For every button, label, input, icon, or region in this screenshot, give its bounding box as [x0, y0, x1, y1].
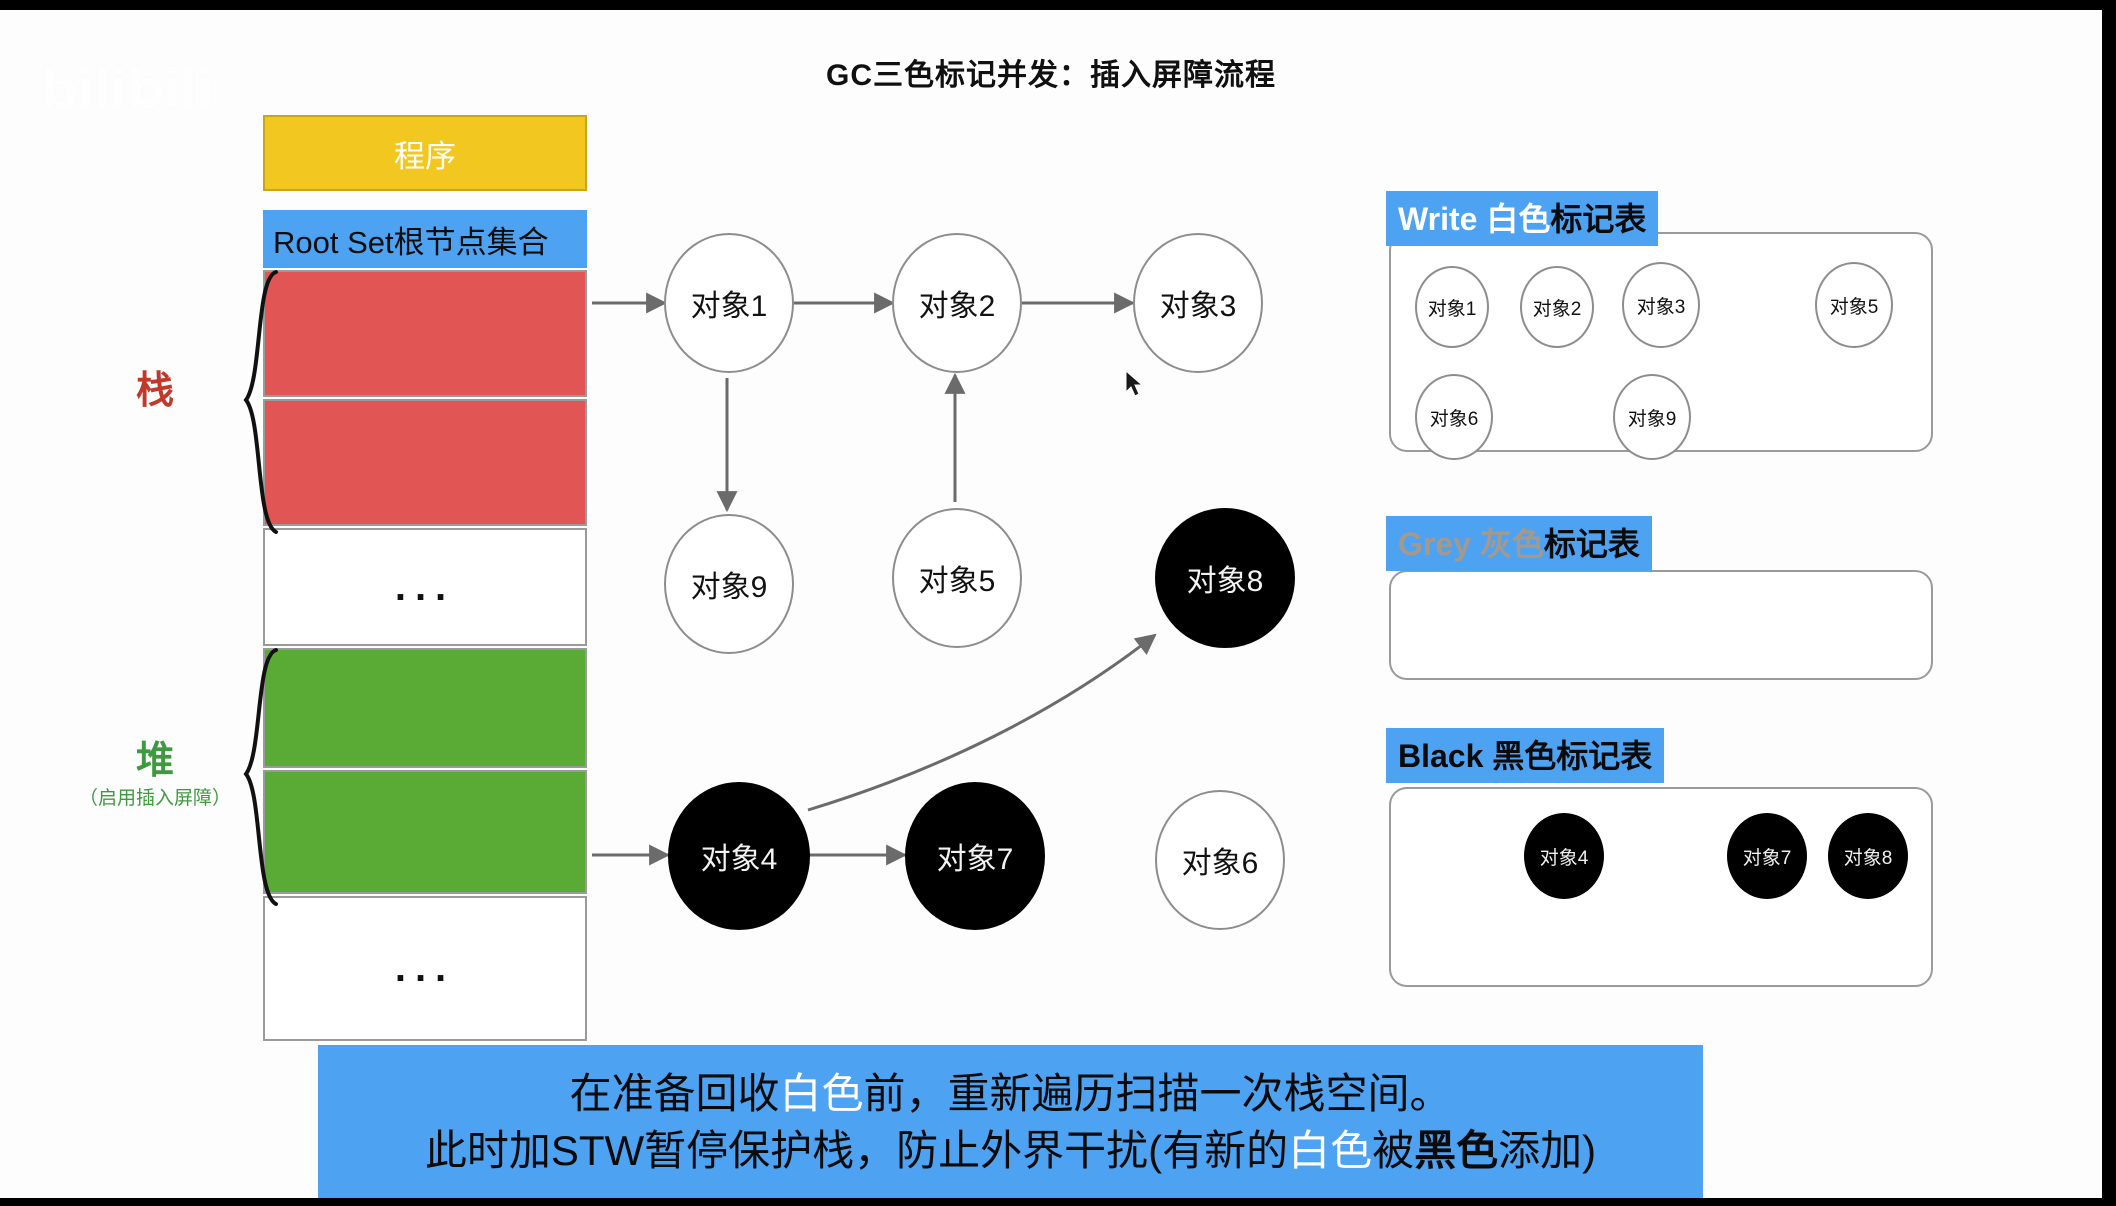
- white-mark-table-title-en: Write: [1398, 201, 1477, 237]
- mouse-cursor-icon: [1124, 370, 1146, 398]
- caption-line1-a: 在准备回收: [569, 1070, 779, 1117]
- chip-label: 对象3: [1637, 292, 1686, 319]
- black-mark-chip-obj7[interactable]: 对象7: [1727, 813, 1807, 899]
- chip-label: 对象4: [1540, 843, 1589, 870]
- caption-line1-b: 前，重新遍历扫描一次栈空间。: [864, 1070, 1452, 1117]
- graph-node-label: 对象3: [1160, 281, 1237, 325]
- caption-line2-white-word: 白色: [1288, 1127, 1372, 1174]
- memory-row-heap-slot-2: [263, 770, 587, 894]
- graph-node-obj9[interactable]: 对象9: [664, 514, 794, 654]
- graph-node-obj5[interactable]: 对象5: [892, 508, 1022, 648]
- heap-sublabel-text: （启用插入屏障）: [60, 788, 250, 810]
- graph-node-label: 对象6: [1182, 838, 1259, 882]
- white-mark-chip-obj5[interactable]: 对象5: [1815, 262, 1893, 348]
- white-mark-chip-obj2[interactable]: 对象2: [1520, 266, 1594, 348]
- chip-label: 对象5: [1830, 292, 1879, 319]
- white-mark-table-title-color-word: 白色: [1486, 201, 1550, 237]
- memory-row-program: 程序: [263, 115, 587, 191]
- heap-label: 堆 （启用插入屏障）: [60, 740, 250, 810]
- white-mark-chip-obj6[interactable]: 对象6: [1415, 374, 1493, 460]
- heap-label-text: 堆: [60, 740, 250, 784]
- graph-node-obj3[interactable]: 对象3: [1133, 233, 1263, 373]
- memory-row-heap-empty: ...: [263, 896, 587, 1041]
- white-mark-table-title-suffix: 标记表: [1550, 201, 1646, 237]
- chip-label: 对象6: [1430, 404, 1479, 431]
- grey-mark-table-title-en: Grey: [1398, 526, 1471, 562]
- graph-node-label: 对象2: [919, 281, 996, 325]
- graph-node-obj6[interactable]: 对象6: [1155, 790, 1285, 930]
- white-mark-chip-obj3[interactable]: 对象3: [1622, 262, 1700, 348]
- black-mark-table-title-color-word: 黑色: [1492, 738, 1556, 774]
- graph-node-label: 对象5: [919, 556, 996, 600]
- graph-node-label: 对象4: [701, 834, 778, 878]
- caption-line-2: 此时加STW暂停保护栈，防止外界干扰(有新的白色被黑色添加): [425, 1123, 1596, 1180]
- white-mark-chip-obj9[interactable]: 对象9: [1613, 374, 1691, 460]
- graph-node-obj1[interactable]: 对象1: [664, 233, 794, 373]
- caption-line2-b: 添加): [1498, 1127, 1596, 1174]
- white-mark-chip-obj1[interactable]: 对象1: [1415, 266, 1489, 348]
- slide-canvas: bilibili GC三色标记并发：插入屏障流程 程序 Root Set根节点集…: [0, 10, 2102, 1198]
- graph-node-label: 对象9: [691, 562, 768, 606]
- graph-node-obj7[interactable]: 对象7: [905, 782, 1045, 930]
- white-mark-table-title: Write 白色标记表: [1386, 191, 1658, 246]
- stack-brace: [228, 268, 288, 538]
- caption-line2-black-word: 黑色: [1414, 1127, 1498, 1174]
- ellipsis-label: ...: [395, 565, 455, 610]
- graph-node-label: 对象7: [937, 834, 1014, 878]
- memory-row-stack-empty: ...: [263, 528, 587, 646]
- grey-mark-table-title-color-word: 灰色: [1480, 526, 1544, 562]
- graph-node-label: 对象1: [691, 281, 768, 325]
- memory-row-program-label: 程序: [394, 131, 456, 176]
- chip-label: 对象7: [1743, 843, 1792, 870]
- black-mark-chip-obj4[interactable]: 对象4: [1524, 813, 1604, 899]
- grey-mark-table-title-suffix: 标记表: [1544, 526, 1640, 562]
- black-mark-table-title: Black 黑色标记表: [1386, 728, 1664, 783]
- ellipsis-label: ...: [395, 946, 455, 991]
- memory-row-root-set: Root Set根节点集合: [263, 210, 587, 268]
- graph-node-obj2[interactable]: 对象2: [892, 233, 1022, 373]
- video-frame: bilibili GC三色标记并发：插入屏障流程 程序 Root Set根节点集…: [0, 0, 2116, 1206]
- memory-row-stack-slot-1: [263, 270, 587, 397]
- caption-line1-white-word: 白色: [779, 1070, 863, 1117]
- memory-row-root-set-label: Root Set根节点集合: [273, 217, 549, 262]
- chip-label: 对象8: [1844, 843, 1893, 870]
- black-mark-table-title-en: Black: [1398, 738, 1483, 774]
- grey-mark-table-title: Grey 灰色标记表: [1386, 516, 1652, 571]
- graph-node-obj4[interactable]: 对象4: [668, 782, 810, 930]
- caption-line-1: 在准备回收白色前，重新遍历扫描一次栈空间。: [569, 1066, 1451, 1123]
- chip-label: 对象9: [1628, 404, 1677, 431]
- memory-row-stack-slot-2: [263, 399, 587, 526]
- black-mark-chip-obj8[interactable]: 对象8: [1828, 813, 1908, 899]
- caption-line2-mid: 被: [1372, 1127, 1414, 1174]
- caption-banner: 在准备回收白色前，重新遍历扫描一次栈空间。 此时加STW暂停保护栈，防止外界干扰…: [318, 1045, 1703, 1198]
- memory-row-heap-slot-1: [263, 648, 587, 768]
- black-mark-table-title-suffix: 标记表: [1556, 738, 1652, 774]
- graph-node-obj8[interactable]: 对象8: [1155, 508, 1295, 648]
- grey-mark-table-box: [1389, 570, 1933, 680]
- graph-node-label: 对象8: [1187, 556, 1264, 600]
- page-title: GC三色标记并发：插入屏障流程: [0, 50, 2102, 94]
- chip-label: 对象1: [1428, 294, 1477, 321]
- stack-label-text: 栈: [90, 370, 220, 414]
- stack-label: 栈: [90, 370, 220, 414]
- caption-line2-a: 此时加STW暂停保护栈，防止外界干扰(有新的: [425, 1127, 1288, 1174]
- chip-label: 对象2: [1533, 294, 1582, 321]
